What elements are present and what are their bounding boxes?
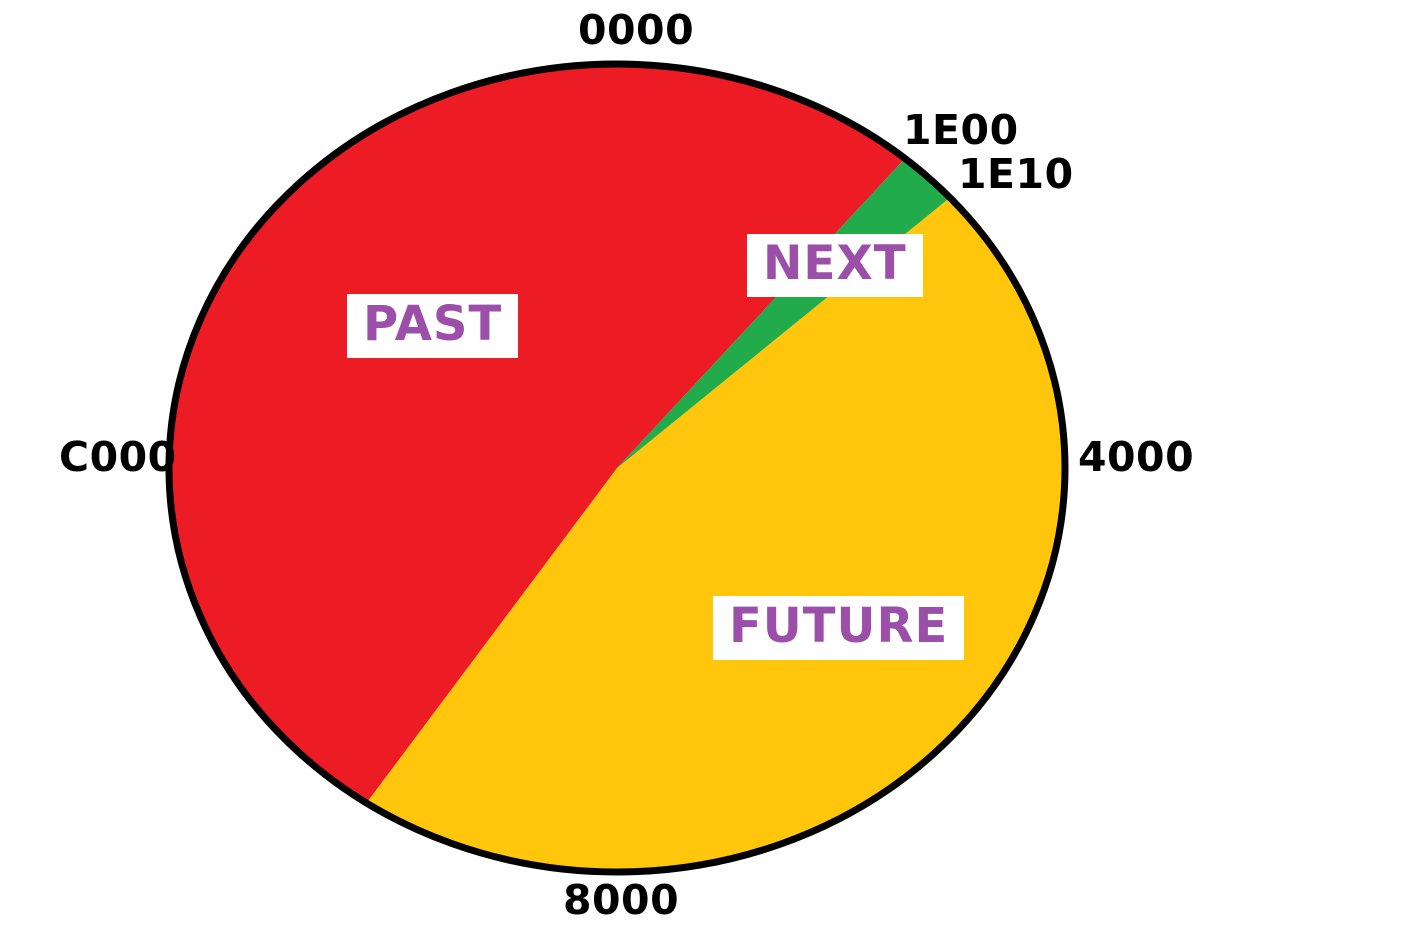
diagram-canvas: 0000 1E00 1E10 4000 8000 C000 PAST NEXT … <box>0 0 1404 949</box>
slice-label-future: FUTURE <box>713 596 964 660</box>
slice-label-past: PAST <box>347 294 518 358</box>
tick-label-c000: C000 <box>59 437 177 478</box>
slice-label-next: NEXT <box>747 234 923 297</box>
tick-label-4000: 4000 <box>1078 437 1194 478</box>
tick-label-1e10: 1E10 <box>958 154 1074 195</box>
tick-label-0000: 0000 <box>578 10 694 51</box>
tick-label-8000: 8000 <box>563 880 679 921</box>
tick-label-1e00: 1E00 <box>903 110 1019 151</box>
